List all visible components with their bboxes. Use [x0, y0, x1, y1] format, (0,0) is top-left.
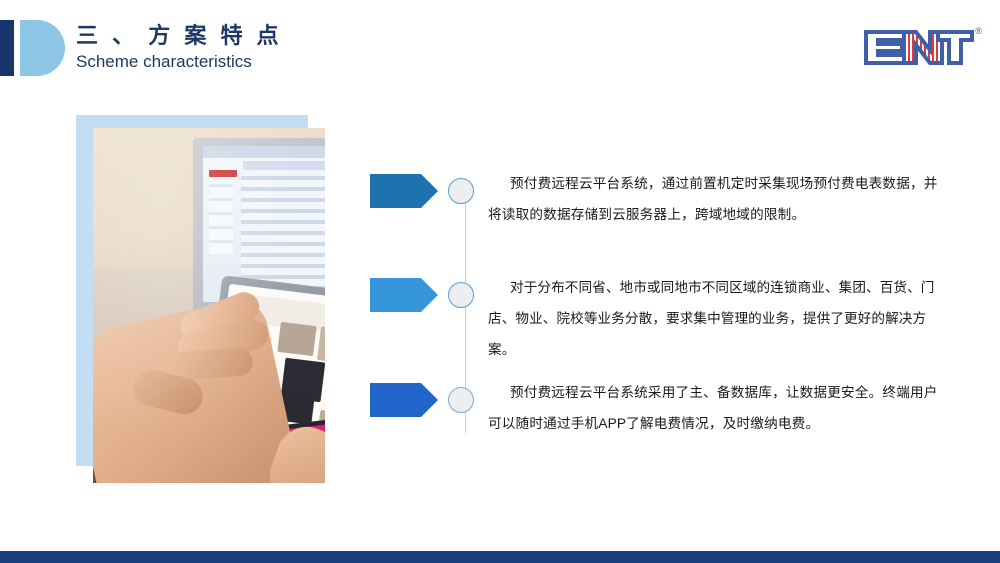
arrow-icon-1 — [370, 174, 438, 208]
slide-header: 三 、 方 案 特 点 Scheme characteristics — [0, 0, 1000, 90]
registered-trademark-icon: ® — [975, 26, 982, 36]
bullet-text-2: 对于分布不同省、地市或同地市不同区域的连锁商业、集团、百货、门店、物业、院校等业… — [488, 272, 940, 365]
timeline-node-3 — [448, 387, 474, 413]
arrow-icon-3 — [370, 383, 438, 417]
header-d-shape-icon — [20, 20, 65, 76]
ent-logo: ® — [860, 26, 978, 68]
bullet-text-3: 预付费远程云平台系统采用了主、备数据库，让数据更安全。终端用户可以随时通过手机A… — [488, 377, 940, 439]
header-navy-bar — [0, 20, 14, 76]
page-title-cn: 三 、 方 案 特 点 — [76, 22, 283, 50]
arrow-icon-2 — [370, 278, 438, 312]
timeline-node-1 — [448, 178, 474, 204]
tablet-photo — [93, 128, 325, 483]
ent-logo-icon — [860, 26, 978, 68]
page-title: 三 、 方 案 特 点 Scheme characteristics — [76, 22, 283, 74]
timeline-node-2 — [448, 282, 474, 308]
footer-bar — [0, 551, 1000, 563]
page-title-en: Scheme characteristics — [76, 50, 283, 74]
bullet-text-1: 预付费远程云平台系统，通过前置机定时采集现场预付费电表数据，并将读取的数据存储到… — [488, 168, 940, 230]
bullet-list: 预付费远程云平台系统，通过前置机定时采集现场预付费电表数据，并将读取的数据存储到… — [360, 150, 940, 450]
